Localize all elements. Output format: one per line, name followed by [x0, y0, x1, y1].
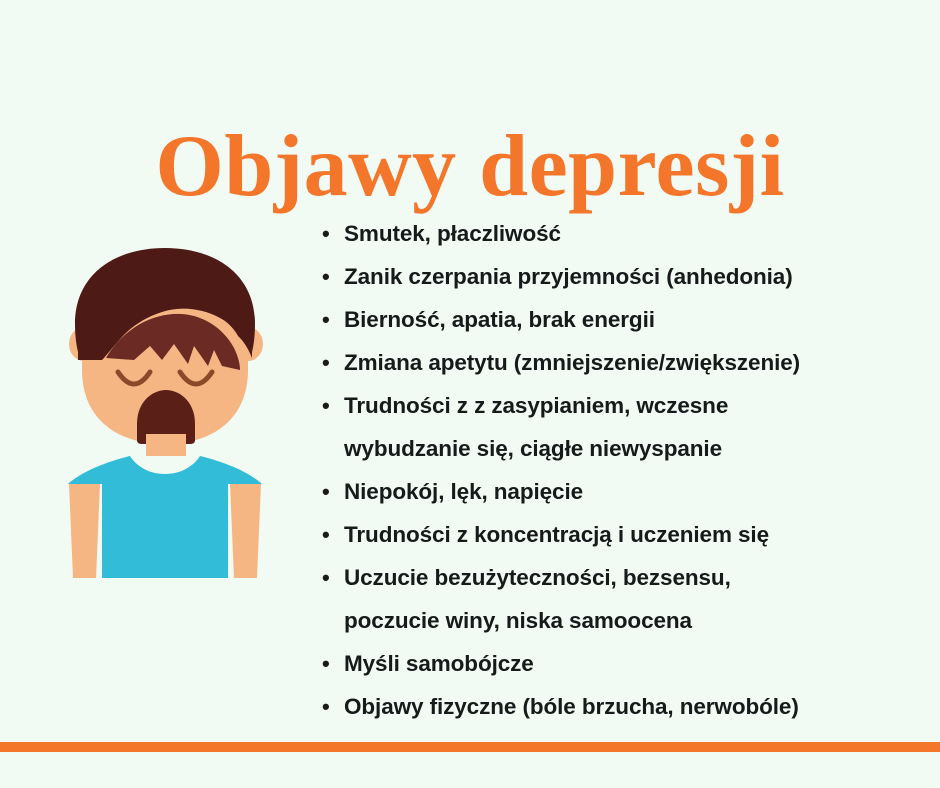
bullet-dot-icon: • [322, 513, 344, 556]
list-item-line: Zanik czerpania przyjemności (anhedonia) [344, 255, 922, 298]
bullet-dot-icon: • [322, 556, 344, 599]
list-item: •Niepokój, lęk, napięcie [322, 470, 922, 513]
list-item-text: Myśli samobójcze [344, 642, 922, 685]
list-item: •Trudności z z zasypianiem, wczesnewybud… [322, 384, 922, 470]
list-item-line: Trudności z z zasypianiem, wczesne [344, 384, 922, 427]
list-item-text: Bierność, apatia, brak energii [344, 298, 922, 341]
list-item-line: Bierność, apatia, brak energii [344, 298, 922, 341]
list-item-line: Smutek, płaczliwość [344, 212, 922, 255]
list-item-text: Objawy fizyczne (bóle brzucha, nerwobóle… [344, 685, 922, 728]
sad-boy-illustration [62, 248, 302, 593]
list-item: •Trudności z koncentracją i uczeniem się [322, 513, 922, 556]
symptom-list: •Smutek, płaczliwość•Zanik czerpania prz… [322, 212, 922, 728]
list-item-line: Niepokój, lęk, napięcie [344, 470, 922, 513]
bullet-dot-icon: • [322, 384, 344, 427]
bullet-dot-icon: • [322, 642, 344, 685]
list-item: •Objawy fizyczne (bóle brzucha, nerwoból… [322, 685, 922, 728]
bullet-dot-icon: • [322, 685, 344, 728]
list-item-text: Niepokój, lęk, napięcie [344, 470, 922, 513]
list-item-text: Zanik czerpania przyjemności (anhedonia) [344, 255, 922, 298]
list-item-text: Uczucie bezużyteczności, bezsensu,poczuc… [344, 556, 922, 642]
list-item: •Zmiana apetytu (zmniejszenie/zwiększeni… [322, 341, 922, 384]
list-item-line: poczucie winy, niska samoocena [344, 599, 922, 642]
bullet-dot-icon: • [322, 470, 344, 513]
list-item-text: Zmiana apetytu (zmniejszenie/zwiększenie… [344, 341, 922, 384]
list-item: •Uczucie bezużyteczności, bezsensu,poczu… [322, 556, 922, 642]
list-item: •Bierność, apatia, brak energii [322, 298, 922, 341]
bottom-accent-bar [0, 742, 940, 752]
bullet-dot-icon: • [322, 255, 344, 298]
list-item-text: Trudności z koncentracją i uczeniem się [344, 513, 922, 556]
right-arm-shape [230, 484, 261, 578]
list-item: •Smutek, płaczliwość [322, 212, 922, 255]
list-item-line: Objawy fizyczne (bóle brzucha, nerwobóle… [344, 685, 922, 728]
list-item: •Myśli samobójcze [322, 642, 922, 685]
list-item-line: Zmiana apetytu (zmniejszenie/zwiększenie… [344, 341, 922, 384]
list-item-line: Uczucie bezużyteczności, bezsensu, [344, 556, 922, 599]
bullet-dot-icon: • [322, 212, 344, 255]
list-item-line: Myśli samobójcze [344, 642, 922, 685]
list-item-text: Trudności z z zasypianiem, wczesnewybudz… [344, 384, 922, 470]
bullet-dot-icon: • [322, 341, 344, 384]
page-title: Objawy depresji [0, 121, 940, 213]
list-item-line: wybudzanie się, ciągłe niewyspanie [344, 427, 922, 470]
list-item-text: Smutek, płaczliwość [344, 212, 922, 255]
infographic-poster: Objawy depresji [0, 0, 940, 788]
list-item: •Zanik czerpania przyjemności (anhedonia… [322, 255, 922, 298]
neck-shape [146, 434, 186, 456]
list-item-line: Trudności z koncentracją i uczeniem się [344, 513, 922, 556]
bullet-dot-icon: • [322, 298, 344, 341]
left-arm-shape [69, 484, 100, 578]
